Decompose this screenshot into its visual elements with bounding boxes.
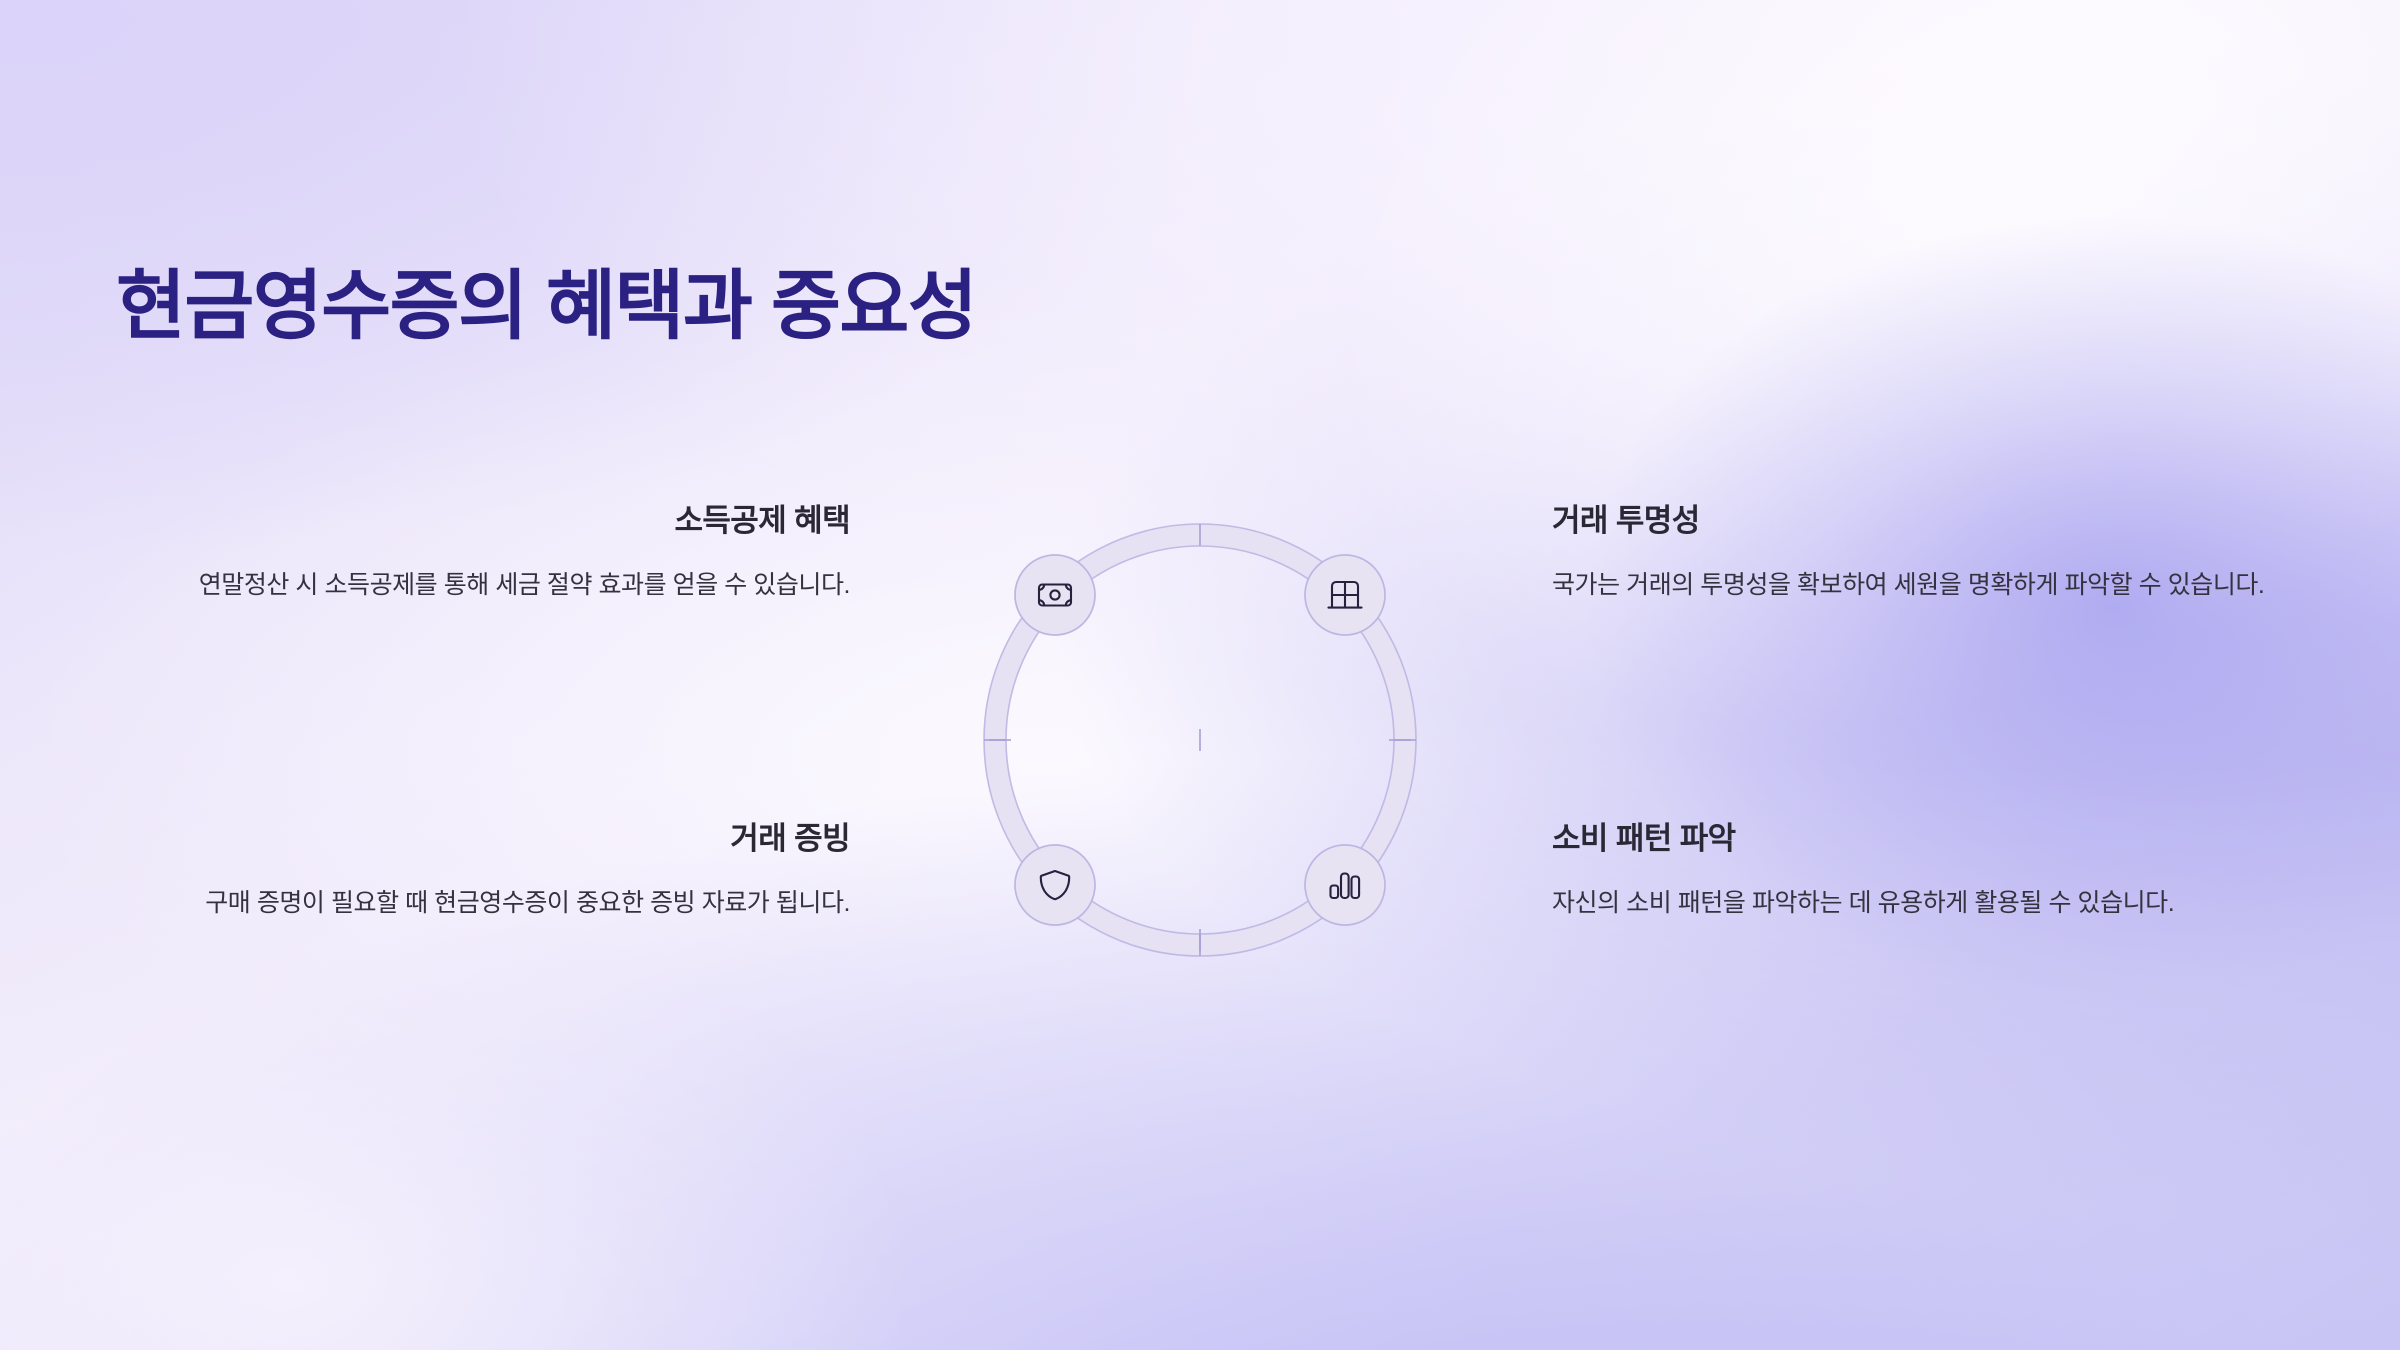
feature-block-income-deduction: 소득공제 혜택 연말정산 시 소득공제를 통해 세금 절약 효과를 얻을 수 있… [130, 500, 850, 607]
feature-description: 자신의 소비 패턴을 파악하는 데 유용하게 활용될 수 있습니다. [1552, 882, 2272, 926]
feature-description: 국가는 거래의 투명성을 확보하여 세원을 명확하게 파악할 수 있습니다. [1552, 564, 2272, 608]
node-badge [1305, 845, 1385, 925]
diagram-node-spending-pattern[interactable] [1305, 845, 1385, 925]
feature-title: 거래 증빙 [130, 818, 850, 860]
feature-title: 거래 투명성 [1552, 500, 2272, 542]
background-light-glow-bottom-left [0, 891, 912, 1350]
ring-segment-bottom-left [995, 740, 1200, 945]
ring-segment-top-right [1200, 535, 1405, 740]
node-badge [1015, 555, 1095, 635]
diagram-node-transaction-transparency[interactable] [1305, 555, 1385, 635]
page-title: 현금영수증의 혜택과 중요성 [116, 262, 976, 352]
feature-description: 연말정산 시 소득공제를 통해 세금 절약 효과를 얻을 수 있습니다. [130, 564, 850, 608]
node-badge [1015, 845, 1095, 925]
feature-block-transaction-proof: 거래 증빙 구매 증명이 필요할 때 현금영수증이 중요한 증빙 자료가 됩니다… [130, 818, 850, 925]
cycle-diagram [900, 440, 1500, 1040]
feature-description: 구매 증명이 필요할 때 현금영수증이 중요한 증빙 자료가 됩니다. [130, 882, 850, 926]
ring-segment-top-left [995, 535, 1200, 740]
feature-title: 소비 패턴 파악 [1552, 818, 2272, 860]
diagram-node-income-deduction[interactable] [1015, 555, 1095, 635]
feature-title: 소득공제 혜택 [130, 500, 850, 542]
feature-block-spending-pattern: 소비 패턴 파악 자신의 소비 패턴을 파악하는 데 유용하게 활용될 수 있습… [1552, 818, 2272, 925]
diagram-node-transaction-proof[interactable] [1015, 845, 1095, 925]
ring-segment-bottom-right [1200, 740, 1405, 945]
feature-block-transaction-transparency: 거래 투명성 국가는 거래의 투명성을 확보하여 세원을 명확하게 파악할 수 … [1552, 500, 2272, 607]
